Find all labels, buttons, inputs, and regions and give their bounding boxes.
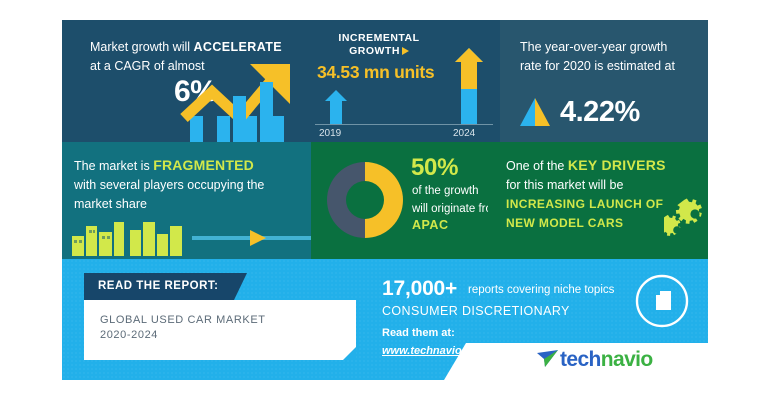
triangle-growth-icon — [518, 98, 552, 126]
logo-text-tech: tech — [560, 348, 601, 371]
technavio-arrow-icon — [536, 348, 560, 370]
axis-label-2019: 2019 — [319, 128, 341, 139]
read-the-report-label: READ THE REPORT: — [98, 280, 218, 292]
apac-region-label: APAC — [412, 218, 449, 232]
apac-percentage: 50% — [411, 154, 458, 182]
report-category: CONSUMER DISCRETIONARY — [382, 304, 570, 318]
drivers-highlight-line1: INCREASING LAUNCH OF — [506, 197, 663, 211]
infographic-frame: Market growth will ACCELERATE at a CAGR … — [62, 20, 708, 380]
yoy-value: 4.22% — [560, 96, 640, 129]
report-title-card[interactable]: GLOBAL USED CAR MARKET 2020-2024 — [84, 300, 356, 360]
bar-2024-icon — [455, 48, 485, 124]
drivers-highlight-line2: NEW MODEL CARS — [506, 216, 623, 230]
middle-row: The market is FRAGMENTED with several pl… — [62, 142, 708, 259]
fragmented-description: The market is FRAGMENTED with several pl… — [74, 156, 309, 214]
yoy-text-line2: rate for 2020 is estimated at — [520, 59, 675, 73]
technavio-logo-area: technavio — [466, 343, 708, 380]
footer-row: READ THE REPORT: GLOBAL USED CAR MARKET … — [62, 259, 708, 380]
technavio-logo: technavio — [536, 348, 653, 372]
reports-caption: reports covering niche topics — [468, 284, 614, 296]
gears-icon — [664, 198, 708, 248]
fragmented-text-line3: market share — [74, 197, 147, 211]
panel-yoy-growth: The year-over-year growth rate for 2020 … — [500, 20, 708, 142]
cagr-text-lead: Market growth will — [90, 40, 194, 54]
apac-description: of the growth will originate from — [412, 182, 488, 218]
report-title-line2: 2020-2024 — [100, 329, 158, 341]
panel-incremental-growth: INCREMENTAL GROWTH 34.53 mn units 2019 2… — [307, 20, 500, 142]
reports-count: 17,000+ — [382, 277, 457, 301]
shopping-bag-icon — [634, 273, 690, 329]
fragmented-text-lead: The market is — [74, 159, 153, 173]
drivers-text-bold: KEY DRIVERS — [568, 157, 666, 173]
incremental-growth-title: INCREMENTAL GROWTH — [319, 32, 439, 58]
yoy-description: The year-over-year growth rate for 2020 … — [520, 38, 705, 76]
panel-apac: 50% of the growth will originate from AP… — [311, 142, 488, 259]
play-triangle-icon — [402, 47, 409, 55]
bar-2019-icon — [325, 90, 349, 124]
drivers-text-line2: for this market will be — [506, 178, 623, 192]
city-buildings-icon — [64, 210, 311, 259]
incremental-title-line2: GROWTH — [349, 45, 400, 57]
donut-chart-icon — [323, 158, 407, 242]
read-them-at-label: Read them at: — [382, 327, 455, 339]
logo-text-navio: navio — [601, 348, 653, 371]
cagr-tall-bar-icon — [258, 82, 284, 142]
apac-text-line1: of the growth — [412, 185, 478, 197]
cagr-bar-icon — [231, 96, 257, 142]
apac-text-line2: will originate from — [412, 203, 488, 215]
cagr-text-bold: ACCELERATE — [194, 40, 283, 54]
axis-label-2024: 2024 — [453, 128, 475, 139]
panel-key-drivers: One of the KEY DRIVERS for this market w… — [488, 142, 708, 259]
incremental-growth-value: 34.53 mn units — [317, 62, 434, 83]
drivers-text-lead: One of the — [506, 159, 568, 173]
incremental-axis-line — [315, 124, 493, 125]
fragmented-text-bold: FRAGMENTED — [153, 157, 254, 173]
panel-fragmented: The market is FRAGMENTED with several pl… — [62, 142, 311, 259]
incremental-title-line1: INCREMENTAL — [338, 32, 419, 44]
fragmented-text-line2: with several players occupying the — [74, 178, 264, 192]
top-row: Market growth will ACCELERATE at a CAGR … — [62, 20, 708, 142]
yoy-text-line1: The year-over-year growth — [520, 40, 667, 54]
read-the-report-tab: READ THE REPORT: — [84, 273, 234, 300]
report-title-line1: GLOBAL USED CAR MARKET — [100, 314, 266, 326]
panel-cagr: Market growth will ACCELERATE at a CAGR … — [62, 20, 307, 142]
